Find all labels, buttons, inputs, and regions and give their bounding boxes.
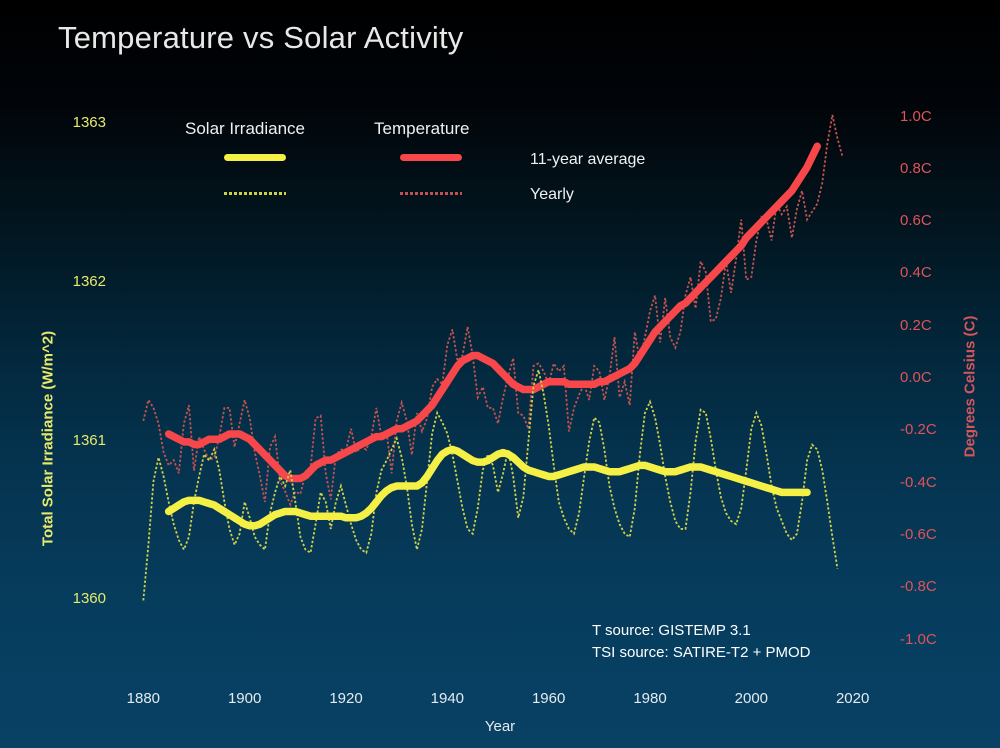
y-right-tick-0-6C: 0.6C — [900, 212, 932, 229]
legend-swatch-temperature-yearly — [400, 192, 462, 195]
y-axis-left-title: Total Solar Irradiance (W/m^2) — [40, 309, 57, 569]
legend-label-yearly: Yearly — [530, 186, 574, 204]
source-note-tsi: TSI source: SATIRE-T2 + PMOD — [592, 642, 811, 664]
legend-title-temperature: Temperature — [374, 119, 469, 139]
y-left-tick-1361: 1361 — [50, 432, 106, 449]
y-right-tick--0-4C: -0.4C — [900, 474, 937, 491]
y-right-tick--0-6C: -0.6C — [900, 526, 937, 543]
x-tick-1900: 1900 — [228, 690, 261, 707]
chart-root: Temperature vs Solar Activity Solar Irra… — [0, 0, 1000, 748]
series-solar-irradiance-yearly — [143, 370, 837, 600]
y-right-tick-0-4C: 0.4C — [900, 264, 932, 281]
x-tick-1940: 1940 — [431, 690, 464, 707]
y-left-tick-1362: 1362 — [50, 273, 106, 290]
y-left-tick-1360: 1360 — [50, 590, 106, 607]
legend-swatch-solar-yearly — [224, 192, 286, 195]
series-solar-irradiance-11-year-average — [169, 449, 807, 525]
x-tick-1920: 1920 — [329, 690, 362, 707]
y-right-tick--0-8C: -0.8C — [900, 578, 937, 595]
legend-label-11-year-average: 11-year average — [530, 151, 645, 169]
y-right-tick-0-2C: 0.2C — [900, 317, 932, 334]
plot-area — [0, 0, 1000, 748]
y-right-tick-1-0C: 1.0C — [900, 108, 932, 125]
legend-swatch-temperature-average — [400, 154, 462, 161]
y-right-tick-0-0C: 0.0C — [900, 369, 932, 386]
x-tick-2020: 2020 — [836, 690, 869, 707]
page-title: Temperature vs Solar Activity — [58, 20, 464, 56]
y-right-tick-0-8C: 0.8C — [900, 160, 932, 177]
y-right-tick--0-2C: -0.2C — [900, 421, 937, 438]
x-tick-1960: 1960 — [532, 690, 565, 707]
legend-title-solar-irradiance: Solar Irradiance — [185, 119, 305, 139]
x-tick-1880: 1880 — [127, 690, 160, 707]
series-temperature-yearly — [143, 115, 842, 505]
source-notes: T source: GISTEMP 3.1 TSI source: SATIRE… — [592, 620, 811, 664]
y-left-tick-1363: 1363 — [50, 114, 106, 131]
y-right-tick--1-0C: -1.0C — [900, 631, 937, 648]
source-note-temperature: T source: GISTEMP 3.1 — [592, 620, 811, 642]
y-axis-right-title: Degrees Celsius (C) — [962, 257, 979, 517]
x-tick-2000: 2000 — [735, 690, 768, 707]
series-temperature-11-year-average — [169, 146, 818, 478]
x-axis-title: Year — [0, 718, 1000, 735]
legend-swatch-solar-average — [224, 154, 286, 161]
x-tick-1980: 1980 — [633, 690, 666, 707]
